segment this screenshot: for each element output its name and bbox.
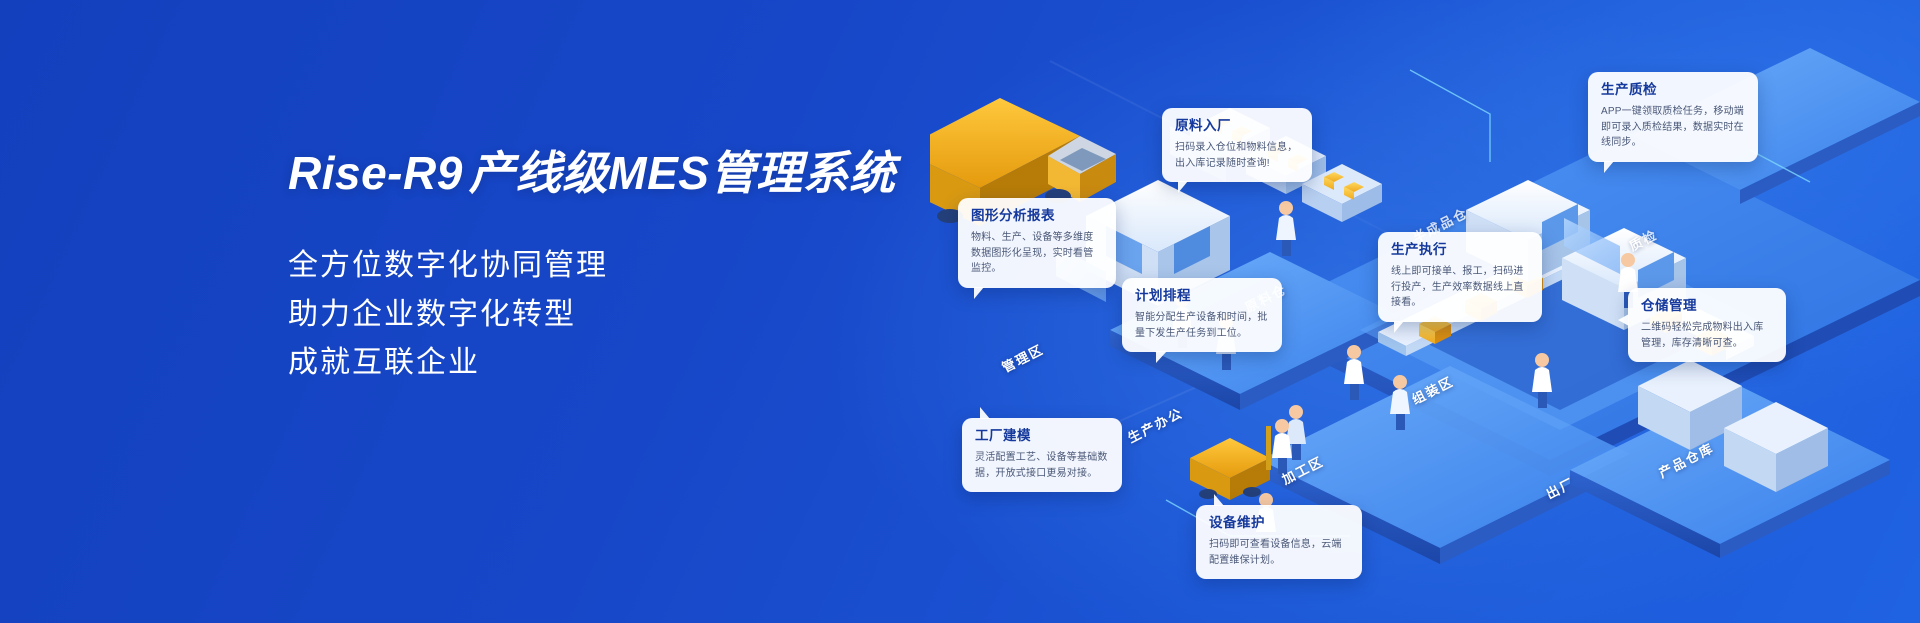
subtitle-line-1: 全方位数字化协同管理 (288, 242, 1008, 291)
callout-body: 扫码录入仓位和物料信息，出入库记录随时查询! (1175, 140, 1299, 171)
callout-title: 图形分析报表 (971, 208, 1103, 224)
callout-title: 设备维护 (1209, 515, 1349, 531)
title-cn: 产线级MES管理系统 (469, 147, 896, 199)
subtitle-line-3: 成就互联企业 (288, 339, 1008, 388)
callout-body: APP一键领取质检任务，移动端即可录入质检结果，数据实时在线同步。 (1601, 104, 1745, 151)
callout-body: 线上即可接单、报工，扫码进行投产，生产效率数据线上直接看。 (1391, 264, 1529, 311)
callout-title: 仓储管理 (1641, 298, 1773, 314)
callout-planning-scheduling[interactable]: 计划排程 智能分配生产设备和时间，批量下发生产任务到工位。 (1122, 278, 1282, 352)
callout-body: 智能分配生产设备和时间，批量下发生产任务到工位。 (1135, 310, 1269, 341)
callout-body: 扫码即可查看设备信息，云端配置维保计划。 (1209, 537, 1349, 568)
brand-name: Rise-R9 (288, 147, 469, 199)
callout-title: 计划排程 (1135, 288, 1269, 304)
hero-copy: Rise-R9产线级MES管理系统 全方位数字化协同管理 助力企业数字化转型 成… (288, 150, 1008, 388)
callout-warehouse-management[interactable]: 仓储管理 二维码轻松完成物料出入库管理，库存清晰可查。 (1628, 288, 1786, 362)
callout-graphical-report[interactable]: 图形分析报表 物料、生产、设备等多维度数据图形化呈现，实时看管监控。 (958, 198, 1116, 288)
callout-production-qc[interactable]: 生产质检 APP一键领取质检任务，移动端即可录入质检结果，数据实时在线同步。 (1588, 72, 1758, 162)
subtitle-line-2: 助力企业数字化转型 (288, 291, 1008, 340)
callout-factory-modeling[interactable]: 工厂建模 灵活配置工艺、设备等基础数据，开放式接口更易对接。 (962, 418, 1122, 492)
callout-material-intake[interactable]: 原料入厂 扫码录入仓位和物料信息，出入库记录随时查询! (1162, 108, 1312, 182)
callout-title: 生产执行 (1391, 242, 1529, 258)
callout-body: 二维码轻松完成物料出入库管理，库存清晰可查。 (1641, 320, 1773, 351)
page-title: Rise-R9产线级MES管理系统 (288, 150, 1008, 196)
callout-equipment-maintenance[interactable]: 设备维护 扫码即可查看设备信息，云端配置维保计划。 (1196, 505, 1362, 579)
callout-production-execution[interactable]: 生产执行 线上即可接单、报工，扫码进行投产，生产效率数据线上直接看。 (1378, 232, 1542, 322)
forklift (1190, 426, 1271, 500)
callout-title: 生产质检 (1601, 82, 1745, 98)
hero-subtitles: 全方位数字化协同管理 助力企业数字化转型 成就互联企业 (288, 242, 1008, 388)
hero-banner: Rise-R9产线级MES管理系统 全方位数字化协同管理 助力企业数字化转型 成… (0, 0, 1920, 623)
callout-title: 原料入厂 (1175, 118, 1299, 134)
callout-title: 工厂建模 (975, 428, 1109, 444)
callout-body: 灵活配置工艺、设备等基础数据，开放式接口更易对接。 (975, 450, 1109, 481)
callout-body: 物料、生产、设备等多维度数据图形化呈现，实时看管监控。 (971, 230, 1103, 277)
